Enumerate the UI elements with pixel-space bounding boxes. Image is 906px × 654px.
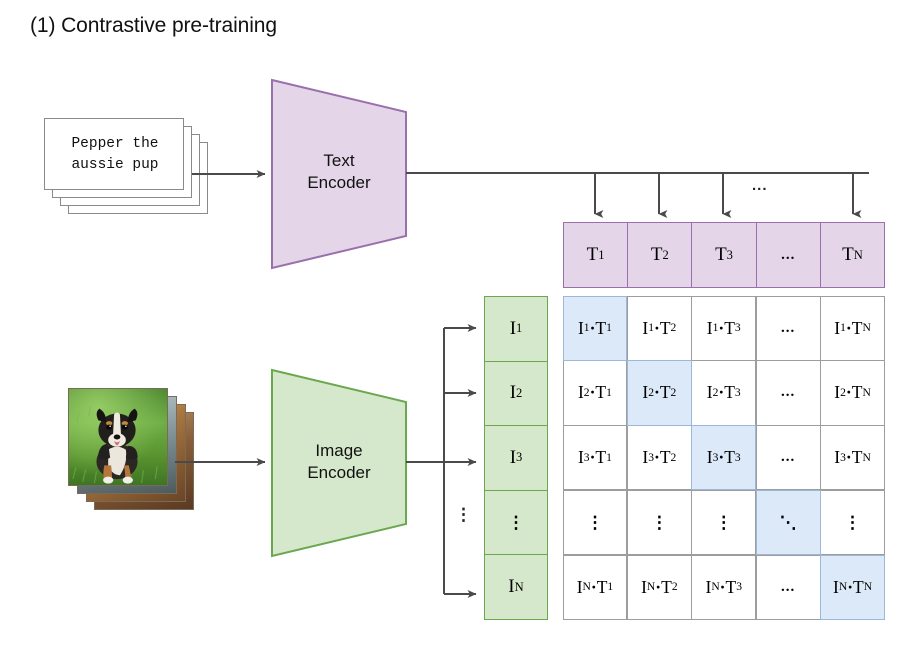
matrix-cell-r5-c1: IN·T1 (563, 555, 628, 620)
text-embedding-row: T1T2T3...TN (563, 222, 885, 288)
similarity-matrix: I1·T1I1·T2I1·T3...I1·TNI2·T1I2·T2I2·T3..… (563, 296, 885, 620)
caption-card-stack: Pepper the aussie pup (44, 118, 220, 218)
diagram-canvas: (1) Contrastive pre-training Pepper the … (0, 0, 906, 654)
matrix-cell-r3-c3: I3·T3 (691, 425, 756, 490)
matrix-cell-r2-c2: I2·T2 (627, 360, 692, 425)
matrix-cell-r4-c1: ⋮ (563, 490, 628, 555)
image-card-stack (68, 388, 200, 510)
text-embedding-cell-N: TN (820, 222, 885, 288)
image-embedding-cell-3: I3 (484, 425, 548, 490)
matrix-cell-r4-c4: ⋱ (756, 490, 821, 555)
matrix-cell-r1-c2: I1·T2 (627, 296, 692, 361)
text-encoder-block: Text Encoder (270, 78, 408, 270)
matrix-cell-r4-c3: ⋮ (691, 490, 756, 555)
matrix-cell-r4-c2: ⋮ (627, 490, 692, 555)
image-embedding-ellipsis: ⋮ (484, 490, 548, 555)
caption-line-2: aussie pup (71, 155, 158, 176)
image-card-front-puppy-photo (68, 388, 168, 486)
image-embedding-cell-1: I1 (484, 296, 548, 361)
matrix-cell-r3-c4: ... (756, 425, 821, 490)
image-embedding-cell-2: I2 (484, 361, 548, 426)
matrix-cell-r2-c5: I2·TN (820, 360, 885, 425)
matrix-cell-r2-c4: ... (756, 360, 821, 425)
caption-line-1: Pepper the (71, 134, 158, 155)
matrix-cell-r1-c3: I1·T3 (691, 296, 756, 361)
matrix-cell-r1-c4: ... (756, 296, 821, 361)
matrix-cell-r3-c5: I3·TN (820, 425, 885, 490)
image-embedding-cell-N: IN (484, 554, 548, 620)
matrix-cell-r5-c4: ... (756, 555, 821, 620)
text-embedding-cell-2: T2 (627, 222, 691, 288)
matrix-cell-r2-c1: I2·T1 (563, 360, 628, 425)
text-embedding-cell-3: T3 (691, 222, 755, 288)
page-title: (1) Contrastive pre-training (30, 14, 277, 38)
text-bus-ellipsis: ... (752, 177, 768, 194)
matrix-cell-r5-c5: IN·TN (820, 555, 885, 620)
image-embedding-column: I1I2I3⋮IN (484, 296, 548, 620)
matrix-cell-r5-c3: IN·T3 (691, 555, 756, 620)
matrix-cell-r3-c2: I3·T2 (627, 425, 692, 490)
matrix-cell-r2-c3: I2·T3 (691, 360, 756, 425)
image-bus-ellipsis: ⋮ (455, 505, 472, 525)
matrix-cell-r4-c5: ⋮ (820, 490, 885, 555)
text-embedding-ellipsis: ... (756, 222, 820, 288)
image-encoder-block: Image Encoder (270, 368, 408, 558)
matrix-cell-r3-c1: I3·T1 (563, 425, 628, 490)
matrix-cell-r5-c2: IN·T2 (627, 555, 692, 620)
text-embedding-cell-1: T1 (563, 222, 627, 288)
caption-card-front: Pepper the aussie pup (44, 118, 184, 190)
matrix-cell-r1-c5: I1·TN (820, 296, 885, 361)
matrix-cell-r1-c1: I1·T1 (563, 296, 628, 361)
caption-text: Pepper the aussie pup (45, 119, 185, 191)
